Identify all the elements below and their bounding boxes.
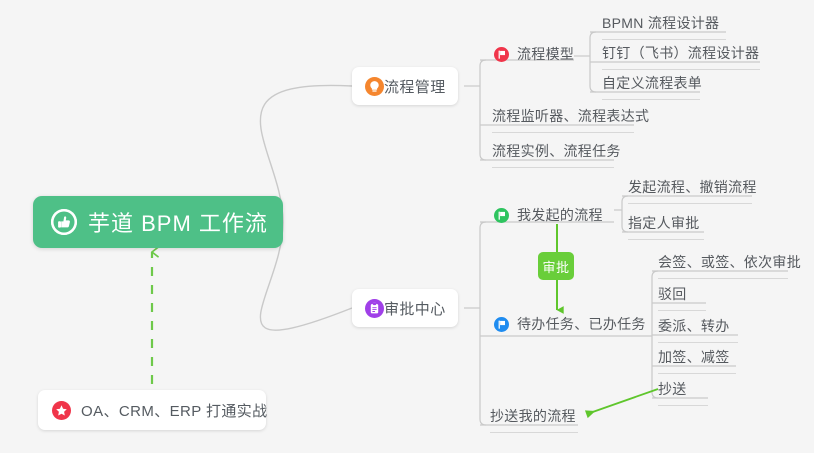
mindmap-canvas: 芋道 BPM 工作流 流程管理 审批中心 [0, 0, 814, 453]
leaf-cc-to-me[interactable]: 抄送我的流程 [490, 406, 578, 433]
branch-approval-center[interactable]: 审批中心 [352, 289, 458, 327]
root-node[interactable]: 芋道 BPM 工作流 [33, 196, 283, 248]
lightbulb-icon [365, 77, 384, 96]
node-process-model[interactable]: 流程模型 [494, 44, 574, 64]
leaf-custom-form[interactable]: 自定义流程表单 [602, 73, 700, 100]
leaf-assignee-approval[interactable]: 指定人审批 [628, 213, 704, 240]
leaf-dingtalk-designer[interactable]: 钉钉（飞书）流程设计器 [602, 43, 760, 70]
approve-badge: 审批 [538, 252, 574, 280]
node-my-started[interactable]: 我发起的流程 [494, 205, 603, 225]
thumbs-up-icon [51, 209, 77, 235]
star-icon [52, 401, 71, 420]
root-node-label: 芋道 BPM 工作流 [88, 206, 268, 238]
wire-pm-trunk [480, 60, 486, 160]
clipboard-icon [365, 299, 384, 318]
branch-label: 流程管理 [384, 76, 446, 97]
flag-icon-green [494, 208, 509, 223]
flag-icon-red [494, 47, 509, 62]
leaf-process-listener[interactable]: 流程监听器、流程表达式 [492, 106, 634, 133]
wire-model-trunk [590, 32, 596, 92]
wire-ac-trunk [480, 222, 486, 425]
leaf-reject[interactable]: 驳回 [658, 284, 706, 311]
branch-label: 审批中心 [384, 298, 446, 319]
node-oa-crm-erp[interactable]: OA、CRM、ERP 打通实战 [38, 390, 266, 430]
flag-icon-blue [494, 317, 509, 332]
leaf-cc[interactable]: 抄送 [658, 379, 708, 406]
node-label: 流程模型 [517, 44, 574, 64]
node-label: OA、CRM、ERP 打通实战 [81, 400, 268, 421]
node-label: 我发起的流程 [517, 205, 603, 225]
leaf-bpmn-designer[interactable]: BPMN 流程设计器 [602, 13, 726, 40]
leaf-process-instance[interactable]: 流程实例、流程任务 [492, 141, 614, 168]
leaf-countersign[interactable]: 会签、或签、依次审批 [658, 252, 788, 279]
node-todo-done[interactable]: 待办任务、已办任务 [494, 314, 646, 334]
leaf-delegate-transfer[interactable]: 委派、转办 [658, 316, 738, 343]
leaf-add-remove-sign[interactable]: 加签、减签 [658, 347, 736, 374]
leaf-start-cancel-process[interactable]: 发起流程、撤销流程 [628, 177, 752, 204]
arrow-cc-link [587, 389, 658, 414]
node-label: 待办任务、已办任务 [517, 314, 646, 334]
branch-process-management[interactable]: 流程管理 [352, 67, 458, 105]
